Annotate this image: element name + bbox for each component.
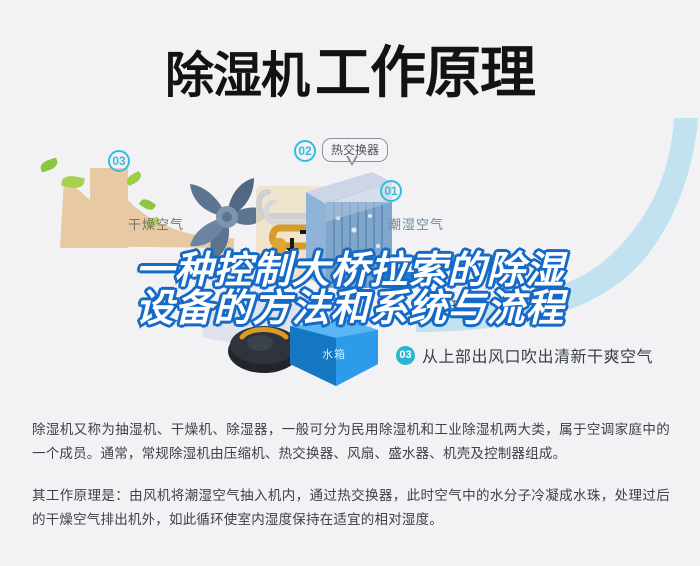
caption-02-partial: 成水珠 [420,296,467,317]
page-title: 除湿机工作原理 [0,28,700,109]
label-humid-air: 潮湿空气 [388,214,444,233]
caption-03-text: 从上部出风口吹出清新干爽空气 [422,343,653,367]
step-badge-01-humid-air: 01 [380,180,402,202]
dehumidifier-diagram: 水箱 03 02 01 热交换器 干燥空气 潮湿空气 成水珠 03 从上部出风口… [0,118,700,408]
water-tank-label: 水箱 [322,346,346,362]
paragraph-definition: 除湿机又称为抽湿机、干燥机、除湿器，一般可分为民用除湿机和工业除湿机两大类，属于… [32,418,670,466]
step-badge-02-heat-exchanger: 02 [294,140,316,162]
air-inlet-arrow [378,268,424,288]
label-dry-air: 干燥空气 [128,214,184,233]
paragraph-working-principle: 其工作原理是：由风机将潮湿空气抽入机内，通过热交换器，此时空气中的水分子冷凝成水… [32,484,670,532]
caption-03-row: 03 从上部出风口吹出清新干爽空气 [396,343,653,367]
infographic-page: 除湿机工作原理 [0,0,700,566]
article-body: 除湿机又称为抽湿机、干燥机、除湿器，一般可分为民用除湿机和工业除湿机两大类，属于… [32,418,670,532]
caption-badge-03: 03 [396,346,415,365]
callout-tail-inner-icon [348,155,356,163]
page-title-secondary: 工作原理 [315,41,535,104]
page-title-primary: 除湿机 [165,49,309,103]
step-badge-03-dry-air: 03 [108,150,130,172]
